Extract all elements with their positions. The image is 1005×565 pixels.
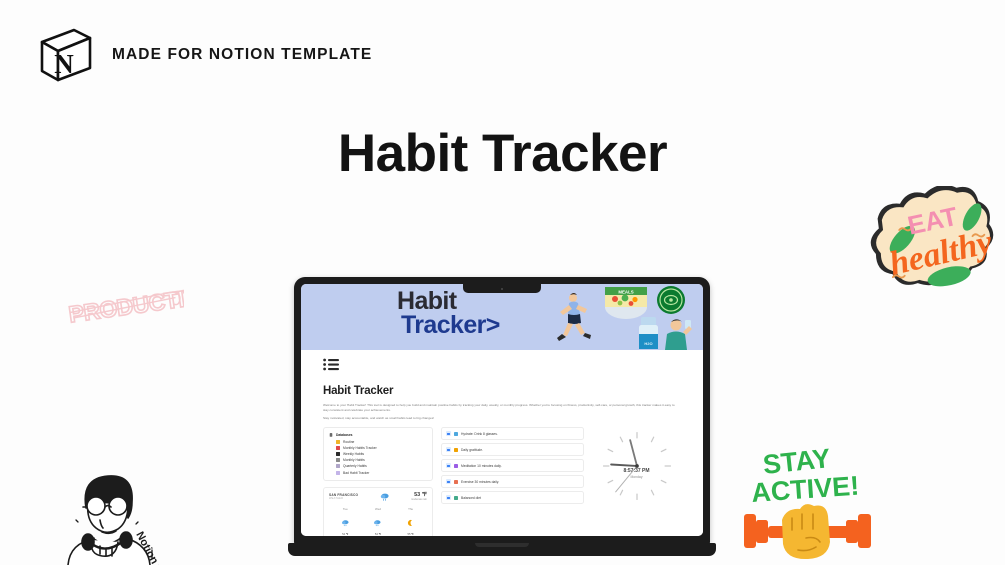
db-item-icon [336,458,340,462]
svg-text:H2O: H2O [644,341,652,346]
laptop-mockup: Habit Tracker> [288,277,716,565]
cover-illustration: MEALS [543,284,703,350]
db-item-label: Routine [343,440,354,444]
laptop-screen: Habit Tracker> [301,284,703,536]
forecast-day: Wed 54 ℉ 52 ℉ [373,507,382,536]
rain-cloud-icon [341,519,350,527]
db-item-label: Weekly Habits [343,452,364,456]
person-drinking-icon [665,319,692,350]
moon-icon [406,519,415,527]
db-item-bad-habit-tracker[interactable]: Bad Habit Tracker [329,469,427,475]
db-item-icon [336,440,340,444]
sticker-stay-active: STAY ACTIVE! STAY ACTIVE! [742,438,874,565]
cover-title-line2: Tracker> [401,313,500,337]
sticker-productivity-label: PRODUCTIVITY [184,281,185,282]
laptop-base [288,543,716,556]
db-item-label: Quarterly Habits [343,464,367,468]
forecast-day: Tue 54 ℉ 52 ℉ [341,507,350,536]
weather-current: SAN FRANCISCO WEATHER [329,492,427,502]
checklist-item[interactable]: Hydrate: Drink 8 glasses. [441,427,584,440]
db-item-icon [336,452,340,456]
clock-time-readout: 8:57:37 PM Monday [623,468,649,479]
item-emoji-icon [454,448,458,452]
checklist-item[interactable]: Exercise 30 minutes daily. [441,475,584,488]
checklist-column: Hydrate: Drink 8 glasses. Daily gratitud… [441,427,584,507]
brand-label: MADE FOR NOTION TEMPLATE [112,46,372,64]
db-item-icon [336,446,340,450]
salad-bowl-icon: MEALS [605,287,647,319]
clock-column: 8:57:37 PM Monday [592,427,681,505]
weather-widget: SAN FRANCISCO WEATHER [323,487,433,536]
running-person-icon [557,293,591,341]
weather-condition: moderate rain [411,498,427,501]
sticker-eat-top: EAT [1003,186,1004,187]
notion-cube-icon: N [34,24,96,86]
db-item-label: Bad Habit Tracker [343,471,369,475]
svg-text:MEALS: MEALS [618,290,633,295]
rain-cloud-icon [373,519,382,527]
notion-paragraph-1: Welcome to your Habit Tracker! This tool… [323,403,681,413]
toc-icon-row[interactable] [323,358,681,376]
svg-text:ACTIVE!: ACTIVE! [750,471,860,508]
notion-cover: Habit Tracker> [301,284,703,350]
checklist-label: Exercise 30 minutes daily. [461,480,499,484]
clock-time: 8:57:37 PM [623,468,649,474]
fist-icon [782,504,830,559]
checklist-label: Meditation 10 minutes daily. [461,464,502,468]
page-root: N MADE FOR NOTION TEMPLATE Habit Tracker… [0,0,1005,565]
item-emoji-icon [454,480,458,484]
sticker-person-label: Notion works [186,462,187,463]
weather-forecast: Tue 54 ℉ 52 ℉ [329,507,427,536]
database-icon [329,433,333,437]
checkbox-icon[interactable] [446,495,451,500]
forecast-day-name: Thu [406,507,415,511]
clock-day: Monday [623,475,649,479]
databases-title: Databases [336,433,353,437]
sticker-active-top: STAY [874,438,875,439]
item-emoji-icon [454,496,458,500]
db-item-label: Monthly Habits Tracker [343,446,377,450]
svg-text:N: N [54,49,74,79]
sticker-eat-bottom: healthy [1003,186,1004,187]
brand-header: N MADE FOR NOTION TEMPLATE [34,24,372,86]
analog-clock-icon [599,428,675,504]
water-bottle-icon: H2O [639,317,658,349]
screen-notch [463,284,541,293]
sticker-productivity: PRODUCTIVITY PRODUCTIVITY [62,281,184,334]
notion-paragraph-2: Stay motivated, stay accountable, and wa… [323,416,681,421]
checkbox-icon[interactable] [446,431,451,436]
forecast-day-name: Tue [341,507,350,511]
content-columns: Databases Routine Monthly Habits Tracker [323,427,681,536]
weather-subtitle: WEATHER [329,497,358,500]
checklist-label: Hydrate: Drink 8 glasses. [461,432,498,436]
page-title: Habit Tracker [0,123,1005,184]
forecast-day: Thu 55 ℉ 49 ℉ [406,507,415,536]
list-menu-icon[interactable] [323,358,340,371]
db-item-icon [336,471,340,475]
databases-column: Databases Routine Monthly Habits Tracker [323,427,433,536]
checkbox-icon[interactable] [446,447,451,452]
notion-page-body: Habit Tracker Welcome to your Habit Trac… [301,350,703,536]
checklist-item[interactable]: Balanced diet [441,491,584,504]
forecast-day-name: Wed [373,507,382,511]
databases-card: Databases Routine Monthly Habits Tracker [323,427,433,480]
checklist-label: Daily gratitude. [461,448,483,452]
green-badge-icon [657,286,685,314]
db-item-icon [336,464,340,468]
checklist-item[interactable]: Meditation 10 minutes daily. [441,459,584,472]
checklist-item[interactable]: Daily gratitude. [441,443,584,456]
checklist-label: Balanced diet [461,496,481,500]
checkbox-icon[interactable] [446,479,451,484]
laptop-lid: Habit Tracker> [294,277,710,545]
svg-text:PRODUCTIVITY: PRODUCTIVITY [67,281,184,328]
clock-widget: 8:57:37 PM Monday [592,427,681,505]
db-item-label: Monthly Habits [343,458,365,462]
item-emoji-icon [454,432,458,436]
checkbox-icon[interactable] [446,463,451,468]
item-emoji-icon [454,464,458,468]
sticker-eat-healthy: EAT healthy EAT healthy [863,186,1003,306]
cover-title: Habit Tracker> [397,289,500,337]
rain-cloud-icon [380,492,390,502]
sticker-notion-works-person: Notion works Notion works [48,462,186,565]
sticker-active-bottom: ACTIVE! [874,438,875,439]
notion-page-heading: Habit Tracker [323,385,681,397]
